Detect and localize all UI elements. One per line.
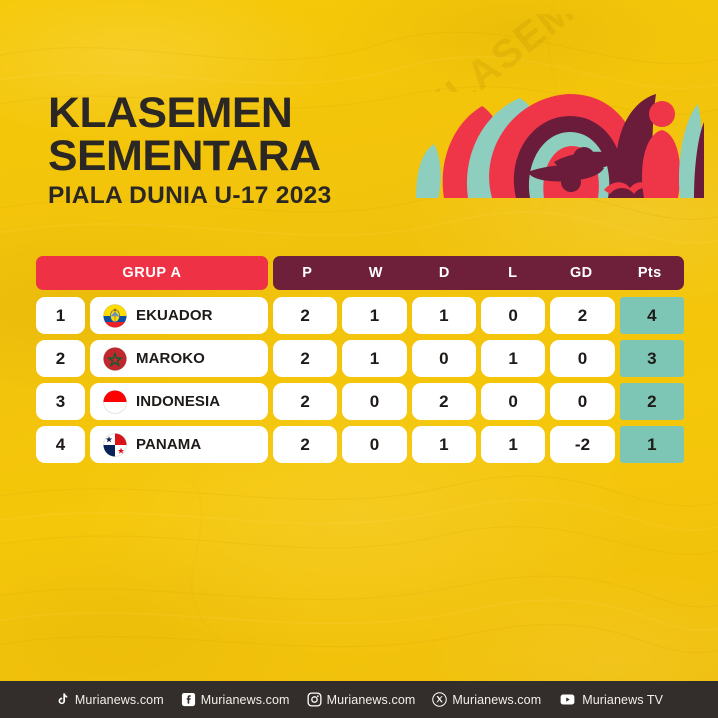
instagram-icon [307,692,322,707]
rank-cell: 4 [36,426,85,463]
stat-p: 2 [273,383,337,420]
stat-pts: 4 [620,297,684,334]
social-footer: Murianews.com Murianews.com Murianews.co… [0,681,718,718]
stat-w: 0 [342,426,406,463]
stat-l: 0 [481,383,545,420]
rank-cell: 3 [36,383,85,420]
social-label: Murianews.com [452,693,541,707]
stat-l: 1 [481,426,545,463]
social-label: Murianews TV [582,693,663,707]
watermark-text: KLASEMEN [414,14,631,92]
column-header-d: D [410,265,479,281]
page-title: KLASEMEN SEMENTARA PIALA DUNIA U-17 2023 [48,92,448,210]
stat-l: 1 [481,340,545,377]
panama-flag-icon [103,433,127,457]
standings-table: GRUP A P W D L GD Pts 1 [36,256,684,463]
column-header-w: W [342,265,411,281]
stat-d: 2 [412,383,476,420]
team-cell[interactable]: EKUADOR [90,297,268,334]
team-cell[interactable]: INDONESIA [90,383,268,420]
stat-headers: P W D L GD Pts [273,256,684,290]
stat-p: 2 [273,426,337,463]
team-name: INDONESIA [136,393,220,410]
stat-l: 0 [481,297,545,334]
column-header-gd: GD [547,265,616,281]
table-header-row: GRUP A P W D L GD Pts [36,256,684,290]
stat-p: 2 [273,297,337,334]
title-line-1: KLASEMEN [48,92,460,135]
group-label: GRUP A [36,256,268,290]
stat-gd: -2 [550,426,614,463]
stat-w: 1 [342,340,406,377]
stat-gd: 0 [550,340,614,377]
stat-gd: 0 [550,383,614,420]
table-row[interactable]: 1 EKUADOR 2 1 1 0 2 4 [36,297,684,334]
stat-d: 1 [412,297,476,334]
stat-w: 1 [342,297,406,334]
team-name: EKUADOR [136,307,213,324]
table-row[interactable]: 4 PANAMA 2 0 1 1 -2 1 [36,426,684,463]
morocco-flag-icon [103,347,127,371]
social-item-facebook[interactable]: Murianews.com [181,692,290,707]
team-cell[interactable]: MAROKO [90,340,268,377]
stat-d: 1 [412,426,476,463]
stat-w: 0 [342,383,406,420]
stat-p: 2 [273,340,337,377]
youtube-icon [558,692,577,707]
stat-gd: 2 [550,297,614,334]
watermark: KLASEMEN [396,14,716,92]
rank-cell: 2 [36,340,85,377]
social-item-x-twitter[interactable]: Murianews.com [432,692,541,707]
column-header-p: P [273,265,342,281]
stat-pts: 3 [620,340,684,377]
stat-pts: 2 [620,383,684,420]
social-item-instagram[interactable]: Murianews.com [307,692,416,707]
social-label: Murianews.com [201,693,290,707]
table-row[interactable]: 3 INDONESIA 2 0 2 0 0 2 [36,383,684,420]
x-twitter-icon [432,692,447,707]
column-header-l: L [479,265,548,281]
stat-d: 0 [412,340,476,377]
title-line-2: SEMENTARA [48,135,460,178]
social-label: Murianews.com [327,693,416,707]
team-name: MAROKO [136,350,205,367]
table-row[interactable]: 2 MAROKO 2 1 0 1 0 3 [36,340,684,377]
facebook-icon [181,692,196,707]
tournament-artwork-icon [408,86,704,198]
tiktok-icon [55,692,70,707]
social-label: Murianews.com [75,693,164,707]
team-cell[interactable]: PANAMA [90,426,268,463]
social-item-tiktok[interactable]: Murianews.com [55,692,164,707]
rank-cell: 1 [36,297,85,334]
stat-pts: 1 [620,426,684,463]
ecuador-flag-icon [103,304,127,328]
column-header-pts: Pts [616,265,685,281]
indonesia-flag-icon [103,390,127,414]
subtitle: PIALA DUNIA U-17 2023 [48,182,456,210]
social-item-youtube[interactable]: Murianews TV [558,692,663,707]
team-name: PANAMA [136,436,201,453]
